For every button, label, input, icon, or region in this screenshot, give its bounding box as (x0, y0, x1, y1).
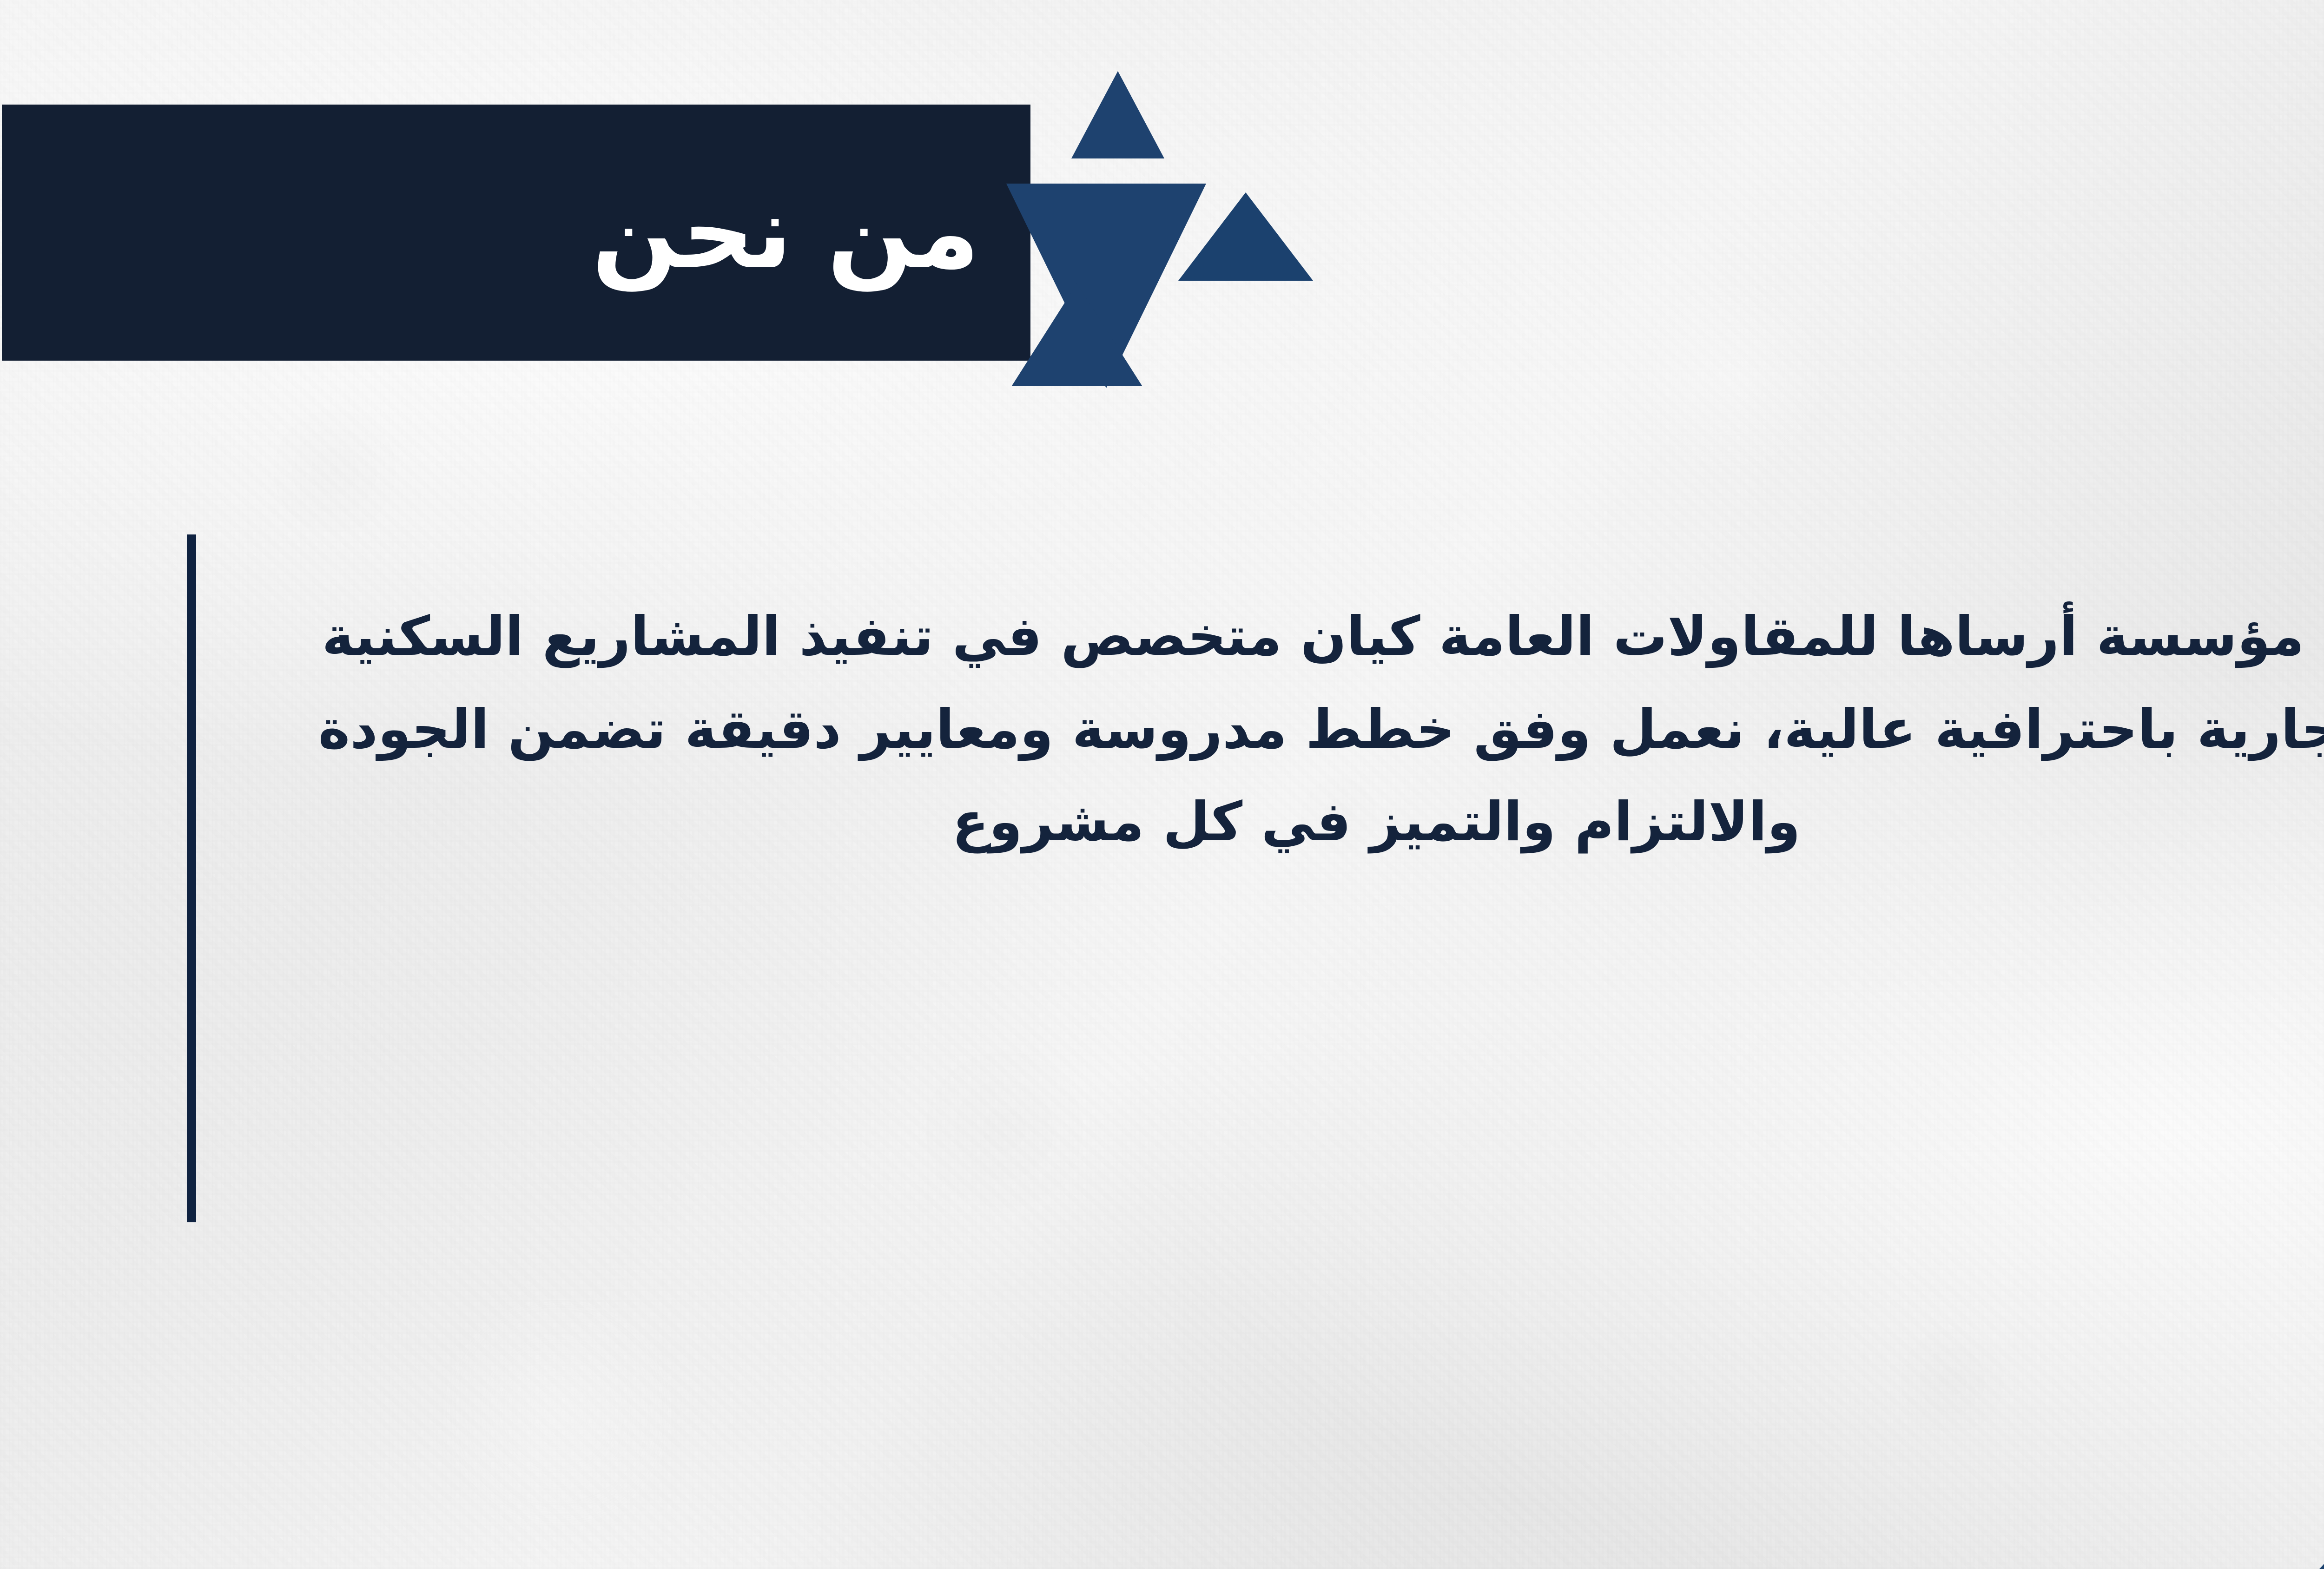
body-copy: نحن مؤسسة أرساها للمقاولات العامة كيان م… (307, 590, 2324, 869)
body-line-1: نحن مؤسسة أرساها للمقاولات العامة كيان م… (307, 590, 2324, 683)
body-line-3: والالتزام والتميز في كل مشروع (307, 776, 2324, 869)
accent-rule (187, 534, 196, 1222)
header-bar: من نحن (2, 105, 1030, 361)
triangle-up-bottom (1012, 283, 1142, 386)
body-line-2: والتجارية باحترافية عالية، نعمل وفق خطط … (307, 683, 2324, 776)
page-title: من نحن (2, 105, 1030, 361)
triangle-up-blue-bottom (2279, 1464, 2324, 1569)
triangle-up-right (1178, 192, 1313, 281)
slide-canvas: من نحن نحن مؤسسة أرساها للمقاولات العامة… (0, 0, 2324, 1569)
triangle-up-small-top (1071, 71, 1164, 158)
